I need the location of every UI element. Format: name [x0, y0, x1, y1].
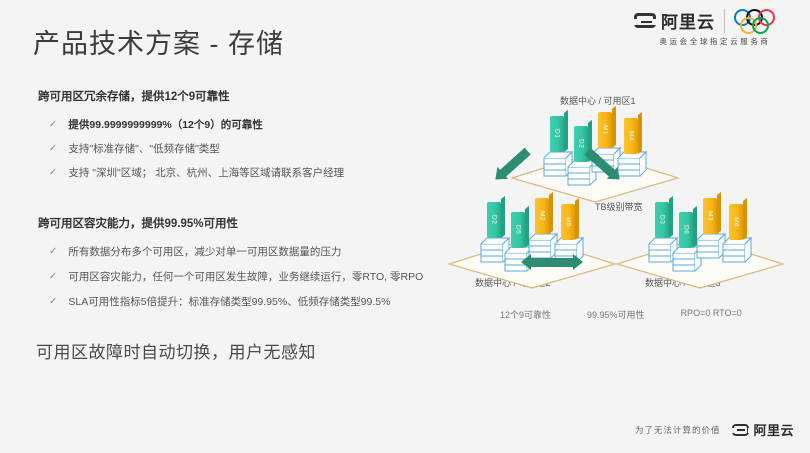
metric-rpo-rto: RPO=0 RTO=0 [681, 308, 742, 321]
section-reliability: 跨可用区冗余存储，提供12个9可靠性 ✓ 提供99.9999999999%（12… [33, 88, 463, 181]
replication-arrow-bottom-icon [530, 258, 574, 267]
check-icon: ✓ [49, 295, 57, 308]
content-body: 跨可用区冗余存储，提供12个9可靠性 ✓ 提供99.9999999999%（12… [33, 88, 463, 320]
brand-row: 阿里云 [634, 8, 796, 33]
multi-az-diagram: 数据中心 / 可用区1 数据中心 / 可用区2 数据中心 / 可用区3 TB级别… [455, 88, 800, 338]
server-bar-label: M3 [707, 211, 714, 221]
olympic-rings-icon [734, 9, 796, 33]
slide-tagline: 可用区故障时自动切换，用户无感知 [36, 338, 316, 363]
brand-name: 阿里云 [661, 8, 715, 33]
section-heading: 跨可用区容灾能力，提供99.95%可用性 [38, 215, 463, 231]
zone-cluster-3: D3 D6 M3 M6 [615, 196, 785, 291]
section-disaster-recovery: 跨可用区容灾能力，提供99.95%可用性 ✓ 所有数据分布多个可用区，减少对单一… [33, 215, 463, 310]
bullet-list: ✓ 所有数据分布多个可用区，减少对单一可用区数据量的压力 ✓ 可用区容灾能力，任… [49, 245, 463, 310]
list-item: ✓ 支持 "深圳"区域； 北京、杭州、上海等区域请联系客户经理 [49, 166, 463, 180]
slide-footer: 为了无法计算的价值 阿里云 [635, 420, 794, 439]
list-item-text: 所有数据分布多个可用区，减少对单一可用区数据量的压力 [68, 245, 341, 259]
zone-cluster-2: D2 D5 M2 M5 [447, 196, 617, 291]
server-bar-label: M6 [733, 217, 740, 227]
alibaba-cloud-mark-icon [732, 424, 749, 436]
list-item-text: 可用区容灾能力，任何一个可用区发生故障，业务继续运行，零RTO, 零RPO [68, 270, 423, 284]
server-racks-icon [615, 196, 785, 291]
zone-label-1: 数据中心 / 可用区1 [560, 94, 636, 107]
brand-subtitle: 奥运会全球指定云服务商 [659, 36, 770, 47]
list-item: ✓ 可用区容灾能力，任何一个可用区发生故障，业务继续运行，零RTO, 零RPO [49, 270, 463, 284]
brand-header: 阿里云 奥运会全球指定云服务商 [634, 8, 796, 47]
section-heading: 跨可用区冗余存储，提供12个9可靠性 [38, 88, 463, 104]
list-item-text: 提供99.9999999999%（12个9）的可靠性 [68, 118, 262, 132]
footer-brand-name: 阿里云 [753, 420, 794, 439]
server-bar-label: M2 [539, 211, 546, 221]
list-item: ✓ 支持"标准存储"、"低频存储"类型 [49, 142, 463, 156]
list-item: ✓ SLA可用性指标5倍提升：标准存储类型99.95%、低频存储类型99.5% [49, 295, 463, 309]
list-item-text: SLA可用性指标5倍提升：标准存储类型99.95%、低频存储类型99.5% [68, 295, 390, 309]
metric-availability: 99.95%可用性 [587, 308, 645, 321]
check-icon: ✓ [49, 270, 57, 283]
page-title: 产品技术方案 - 存储 [33, 22, 284, 61]
server-bar-label: M4 [628, 131, 635, 141]
server-bar-label: D2 [578, 139, 585, 148]
list-item-text: 支持"标准存储"、"低频存储"类型 [68, 142, 219, 156]
server-bar-label: M1 [602, 125, 609, 135]
server-bar-label: D2 [491, 215, 498, 224]
check-icon: ✓ [49, 245, 57, 258]
list-item: ✓ 提供99.9999999999%（12个9）的可靠性 [49, 118, 463, 132]
metric-reliability: 12个9可靠性 [500, 308, 551, 321]
footer-slogan: 为了无法计算的价值 [635, 424, 721, 436]
check-icon: ✓ [49, 118, 57, 131]
check-icon: ✓ [49, 166, 57, 179]
server-bar-label: D5 [515, 225, 522, 234]
server-bar-label: D3 [659, 215, 666, 224]
slide-canvas: 阿里云 奥运会全球指定云服务商 产品技术方案 - 存储 跨可用区冗余存储，提供1… [0, 0, 810, 453]
alibaba-cloud-mark-icon [634, 13, 656, 28]
check-icon: ✓ [49, 142, 57, 155]
metrics-row: 12个9可靠性 99.95%可用性 RPO=0 RTO=0 [500, 308, 800, 321]
footer-logo: 阿里云 [732, 420, 794, 439]
list-item: ✓ 所有数据分布多个可用区，减少对单一可用区数据量的压力 [49, 245, 463, 259]
brand-divider [724, 9, 725, 33]
list-item-text: 支持 "深圳"区域； 北京、杭州、上海等区域请联系客户经理 [68, 166, 344, 180]
server-racks-icon [447, 196, 617, 291]
bullet-list: ✓ 提供99.9999999999%（12个9）的可靠性 ✓ 支持"标准存储"、… [49, 118, 463, 181]
server-bar-label: M5 [565, 217, 572, 227]
server-bar-label: D6 [683, 225, 690, 234]
server-bar-label: D1 [554, 129, 561, 138]
alibaba-cloud-logo: 阿里云 [634, 8, 715, 33]
